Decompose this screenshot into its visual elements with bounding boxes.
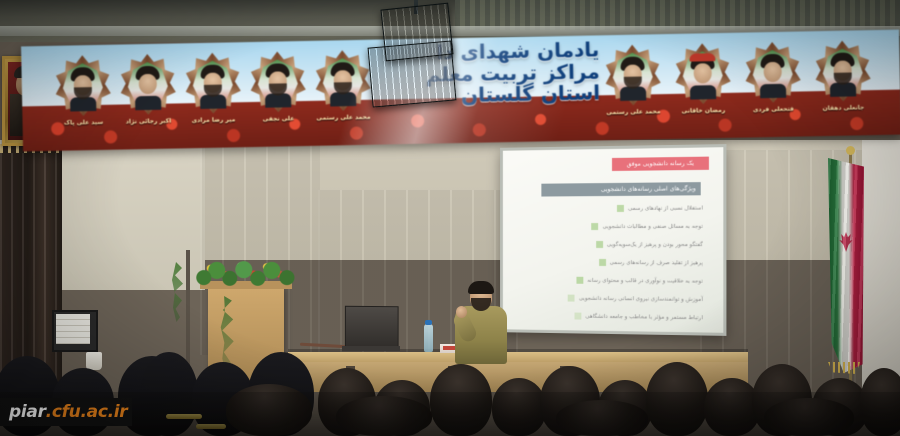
slide-bullet-text: ارتباط مستمر و مؤثر با مخاطب و جامعه دان…: [585, 313, 702, 321]
left-wall-panel: [55, 140, 205, 290]
slide-bullet-row: توجه به مسائل صنفی و مطالبات دانشجویی: [518, 223, 703, 230]
flag-finial: [846, 146, 855, 155]
bullet-square-icon: [596, 241, 603, 248]
slide-subtitle-text: ویژگی‌های اصلی رسانه‌های دانشجویی: [601, 185, 696, 193]
flower-arrangement: [193, 256, 301, 292]
projection-screen: یک رسانه دانشجویی موفق ویژگی‌های اصلی رس…: [503, 147, 723, 333]
paper-cup: [86, 352, 102, 370]
slide-bullet-row: استقلال نسبی از نهادهای رسمی: [518, 204, 703, 212]
slide-bullet-text: گفتگو محور بودن و پرهیز از یک‌سویه‌گویی: [607, 241, 703, 247]
slide-bullet-text: توجه به خلاقیت و نوآوری در قالب و محتوای…: [587, 277, 702, 284]
slide-bullet-row: آموزش و توانمندسازی نیروی انسانی رسانه د…: [518, 294, 703, 303]
bullet-square-icon: [592, 223, 599, 230]
water-bottle: [424, 324, 433, 352]
slide-bullet-row: ارتباط مستمر و مؤثر با مخاطب و جامعه دان…: [518, 312, 703, 321]
memorial-banner: سید علی پاک اکبر رجائی نژاد میر رضا مراد…: [21, 30, 900, 152]
bullet-square-icon: [575, 313, 582, 320]
banner-glare: [21, 30, 900, 152]
slide-subtitle-box: ویژگی‌های اصلی رسانه‌های دانشجویی: [541, 182, 700, 196]
slide-header-box: یک رسانه دانشجویی موفق: [612, 157, 709, 171]
bottle-cap: [425, 320, 432, 325]
slide-bullet-row: پرهیز از تقلید صرف از رسانه‌های رسمی: [518, 259, 703, 267]
slide-bullet-text: توجه به مسائل صنفی و مطالبات دانشجویی: [603, 223, 703, 229]
speaker-hair: [468, 281, 494, 294]
watermark-prefix: piar: [9, 402, 46, 422]
right-wall-column: [862, 140, 900, 400]
speaker-hand: [456, 306, 467, 318]
watermark-suffix: .cfu.ac.ir: [46, 402, 128, 422]
notice-paper: [56, 314, 90, 344]
slide-bullet-row: توجه به خلاقیت و نوآوری در قالب و محتوای…: [518, 276, 703, 284]
bullet-square-icon: [599, 259, 606, 266]
slide-bullet-text: آموزش و توانمندسازی نیروی انسانی رسانه د…: [579, 295, 703, 302]
foreground-shadow: [0, 392, 900, 436]
ceiling-speaker-lower: [368, 40, 457, 107]
laptop-base: [342, 346, 400, 351]
watermark: piar .cfu.ac.ir: [0, 398, 132, 426]
bullet-square-icon: [617, 205, 624, 212]
laptop: [345, 306, 399, 350]
slide-header-text: یک رسانه دانشجویی موفق: [627, 160, 694, 168]
bullet-square-icon: [568, 295, 575, 302]
flag-fringe: [828, 362, 860, 374]
flag-folds: [828, 158, 864, 373]
slide-bullet-text: پرهیز از تقلید صرف از رسانه‌های رسمی: [610, 259, 703, 265]
photograph: سید علی پاک اکبر رجائی نژاد میر رضا مراد…: [0, 0, 900, 436]
bullet-square-icon: [577, 277, 584, 284]
slide-bullet-row: گفتگو محور بودن و پرهیز از یک‌سویه‌گویی: [518, 241, 703, 248]
slide-bullet-text: استقلال نسبی از نهادهای رسمی: [628, 205, 703, 211]
